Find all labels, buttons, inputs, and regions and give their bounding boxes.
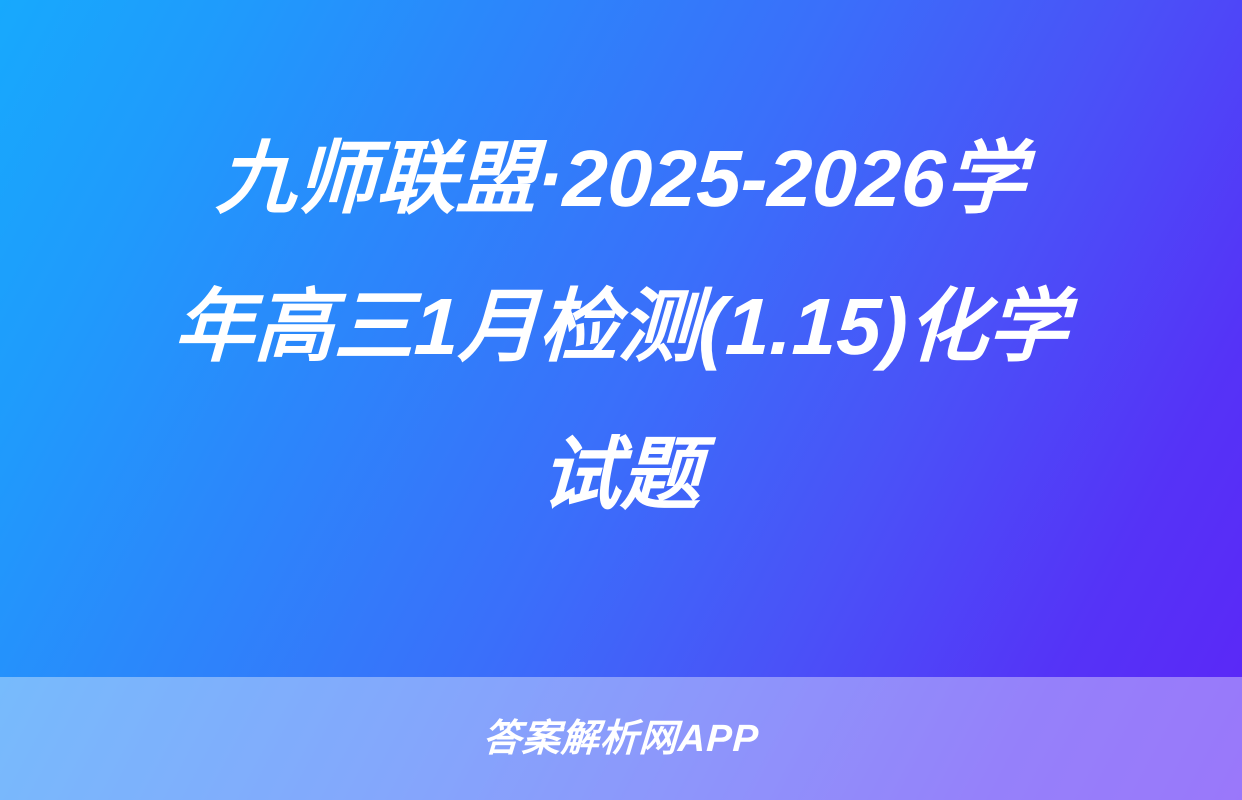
brand-footer-band: 答案解析网APP: [0, 677, 1242, 800]
brand-name-label: 答案解析网APP: [482, 720, 760, 758]
exam-title-line-1: 九师联盟·2025-2026学: [69, 105, 1172, 253]
exam-cover-card: 九师联盟·2025-2026学 年高三1月检测(1.15)化学 试题 答案解析网…: [0, 0, 1242, 800]
exam-title-block: 九师联盟·2025-2026学 年高三1月检测(1.15)化学 试题: [0, 0, 1242, 677]
exam-title-line-3: 试题: [69, 401, 1172, 549]
exam-title-line-2: 年高三1月检测(1.15)化学: [69, 253, 1172, 401]
